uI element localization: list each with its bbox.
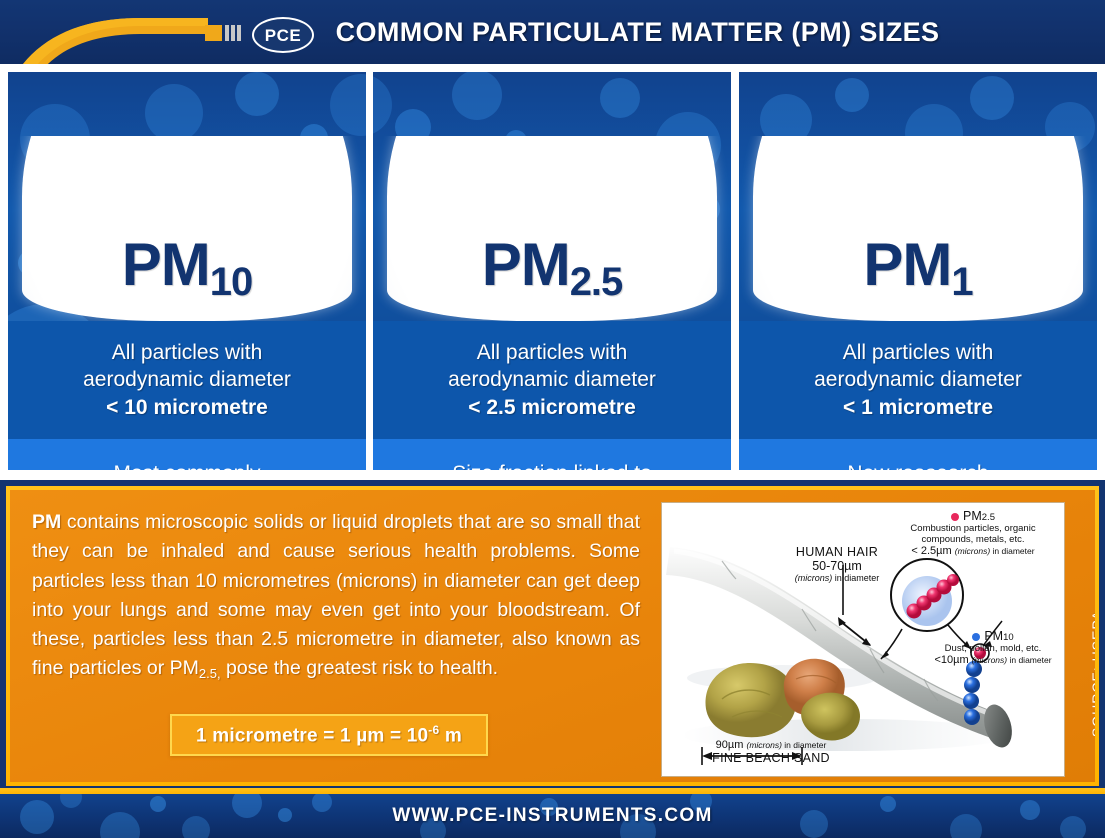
pm-desc-line1: All particles with xyxy=(112,339,263,366)
pm10-unit-rest: in diameter xyxy=(1007,655,1051,665)
pm-desc-threshold: < 2.5 micrometre xyxy=(468,394,636,421)
pm-base-text: PM xyxy=(482,231,570,298)
pm25-unit-rest: in diameter xyxy=(990,546,1034,556)
unit-conversion-text: 1 micrometre = 1 µm = 10-6 m xyxy=(196,723,462,747)
pm-label-1: PM1 xyxy=(863,235,972,321)
sand-unit-italic: (microns) xyxy=(746,740,781,750)
pm-card-description-1: All particles with aerodynamic diameter … xyxy=(739,321,1097,439)
pm10-label-group: PM10 Dust, pollen, mold, etc. <10µm (mic… xyxy=(920,629,1065,666)
pm-card-dome-area: PM2.5 xyxy=(373,136,731,321)
info-paragraph: PM contains microscopic solids or liquid… xyxy=(32,508,640,684)
pm-card-25[interactable]: PM2.5 All particles with aerodynamic dia… xyxy=(373,136,731,480)
pm-dome: PM2.5 xyxy=(387,136,717,321)
pm-desc-line2: aerodynamic diameter xyxy=(814,366,1022,393)
card-separator-bottom xyxy=(0,470,1105,480)
sand-size: 90µm xyxy=(716,739,744,751)
pm25-label-group: PM2.5 Combustion particles, organic comp… xyxy=(880,509,1065,557)
pm-desc-line2: aerodynamic diameter xyxy=(83,366,291,393)
info-panel: PM contains microscopic solids or liquid… xyxy=(6,486,1099,786)
pm-label-25: PM2.5 xyxy=(482,235,623,321)
pm25-unit-italic: (microns) xyxy=(955,546,990,556)
hair-unit-rest: in diameter xyxy=(832,573,879,583)
info-paragraph-lead: PM xyxy=(32,511,61,533)
pm25-size: < 2.5µm xyxy=(911,545,951,557)
pm-desc-line2: aerodynamic diameter xyxy=(448,366,656,393)
pm-desc-line1: All particles with xyxy=(843,339,994,366)
pm-label-10: PM10 xyxy=(122,235,253,321)
source-credit: SOURCE: USEPA xyxy=(1089,610,1095,737)
pm-base-text: PM xyxy=(122,231,210,298)
card-separator-1 xyxy=(366,64,373,480)
pm-card-10[interactable]: PM10 All particles with aerodynamic diam… xyxy=(8,136,366,480)
pm10-unit-italic: (microns) xyxy=(972,655,1007,665)
info-paragraph-part2: pose the greatest risk to health. xyxy=(221,657,499,679)
card-separator-2 xyxy=(731,64,739,480)
pm25-desc2: compounds, metals, etc. xyxy=(880,534,1065,545)
pm25-label: PM xyxy=(963,509,982,523)
pm25-desc1: Combustion particles, organic xyxy=(880,523,1065,534)
pm-dome: PM10 xyxy=(22,136,352,321)
pm10-title: PM10 xyxy=(920,629,1065,643)
header-bar: PCE COMMON PARTICULATE MATTER (PM) SIZES xyxy=(0,0,1105,64)
pm25-sub: 2.5 xyxy=(982,512,995,523)
pm-card-description-25: All particles with aerodynamic diameter … xyxy=(373,321,731,439)
info-paragraph-subscript: 2.5, xyxy=(199,666,221,681)
cards-section: PM10 All particles with aerodynamic diam… xyxy=(0,64,1105,480)
card-separator-top xyxy=(0,64,1105,72)
info-panel-inner: PM contains microscopic solids or liquid… xyxy=(10,490,1095,782)
pm25-dot-icon xyxy=(951,513,959,521)
sand-label: FINE BEACH SAND xyxy=(676,751,866,765)
pm-base-text: PM xyxy=(863,231,951,298)
pm10-sub: 10 xyxy=(1003,632,1014,643)
pm-card-description-10: All particles with aerodynamic diameter … xyxy=(8,321,366,439)
pm-desc-line1: All particles with xyxy=(477,339,628,366)
page-title: COMMON PARTICULATE MATTER (PM) SIZES xyxy=(0,0,1105,64)
card-separator-right xyxy=(1097,64,1105,480)
hair-unit-italic: (microns) xyxy=(795,573,833,583)
pm-card-1[interactable]: PM1 All particles with aerodynamic diame… xyxy=(739,136,1097,480)
sand-label-group: 90µm (microns) in diameter FINE BEACH SA… xyxy=(676,739,866,765)
pm-desc-threshold: < 10 micrometre xyxy=(106,394,268,421)
formula-exponent: -6 xyxy=(428,723,439,737)
footer-url[interactable]: WWW.PCE-INSTRUMENTS.COM xyxy=(0,794,1105,838)
unit-conversion-box: 1 micrometre = 1 µm = 10-6 m xyxy=(170,714,488,756)
formula-main: 1 micrometre = 1 µm = 10 xyxy=(196,725,428,746)
sand-unit-rest: in diameter xyxy=(782,740,826,750)
pm-card-dome-area: PM10 xyxy=(8,136,366,321)
pm10-dot-icon xyxy=(972,633,980,641)
pm-dome: PM1 xyxy=(753,136,1083,321)
pm10-size: <10µm xyxy=(934,654,968,666)
pm10-desc1: Dust, pollen, mold, etc. xyxy=(920,643,1065,654)
pm10-label: PM xyxy=(984,629,1003,643)
pm-card-dome-area: PM1 xyxy=(739,136,1097,321)
pm25-title: PM2.5 xyxy=(880,509,1065,523)
footer-bar: WWW.PCE-INSTRUMENTS.COM xyxy=(0,794,1105,838)
formula-tail: m xyxy=(439,725,462,746)
info-paragraph-part1: contains microscopic solids or liquid dr… xyxy=(32,511,640,679)
pm-desc-threshold: < 1 micrometre xyxy=(843,394,993,421)
card-separator-left xyxy=(0,64,8,480)
usepa-diagram: HUMAN HAIR 50-70µm (microns) in diameter… xyxy=(661,502,1065,777)
infographic-poster: PCE COMMON PARTICULATE MATTER (PM) SIZES xyxy=(0,0,1105,838)
pm-subscript-text: 1 xyxy=(951,260,972,304)
pm-subscript-text: 10 xyxy=(210,260,253,304)
pm-subscript-text: 2.5 xyxy=(570,260,623,304)
hair-size: 50-70µm xyxy=(762,559,912,573)
